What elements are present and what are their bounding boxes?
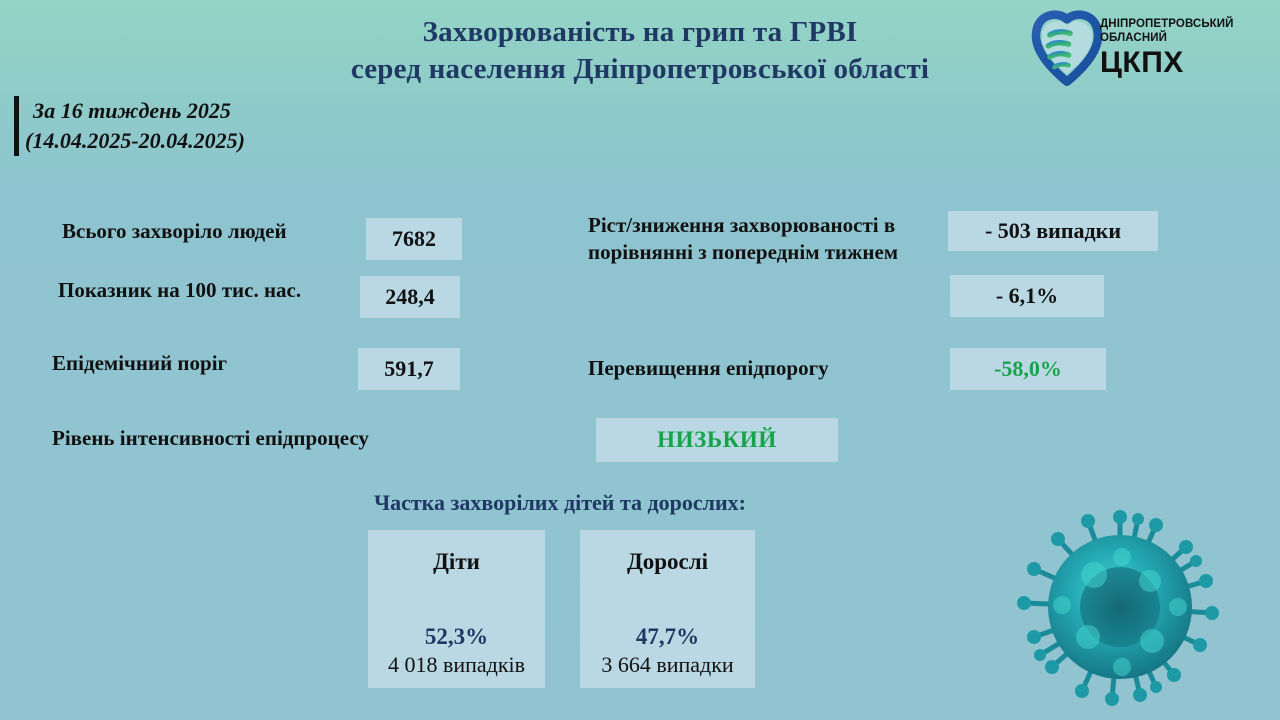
epidemic-intensity-value: НИЗЬКИЙ: [596, 418, 838, 462]
adults-card-title: Дорослі: [580, 548, 755, 576]
reporting-period-week: За 16 тиждень 2025: [33, 96, 245, 126]
weekly-change-percent-value: - 6,1%: [950, 275, 1104, 317]
organization-abbreviation: ЦКПХ: [1100, 47, 1276, 79]
total-cases-value: 7682: [366, 218, 462, 260]
incidence-rate-label: Показник на 100 тис. нас.: [58, 277, 301, 304]
organization-line-1: ДНІПРОПЕТРОВСЬКИЙ: [1100, 18, 1276, 32]
reporting-period-dates: (14.04.2025-20.04.2025): [25, 126, 245, 156]
threshold-excess-value: -58,0%: [950, 348, 1106, 390]
children-share-percent: 52,3%: [368, 624, 545, 650]
adults-share-card: Дорослі 47,7% 3 664 випадки: [580, 530, 755, 688]
adults-share-cases: 3 664 випадки: [580, 652, 755, 678]
share-section-title: Частка захворілих дітей та дорослих:: [330, 490, 790, 516]
incidence-rate-value: 248,4: [360, 276, 460, 318]
weekly-change-label: Ріст/зниження захворюваності в порівнянн…: [588, 212, 908, 266]
shield-heart-logo-icon: [1028, 10, 1106, 88]
epidemic-threshold-label: Епідемічний поріг: [52, 350, 227, 377]
children-share-cases: 4 018 випадків: [368, 652, 545, 678]
page-title-line-1: Захворюваність на грип та ГРВІ: [200, 14, 1080, 51]
epidemic-intensity-label: Рівень інтенсивності епідпроцесу: [52, 425, 369, 452]
page-title: Захворюваність на грип та ГРВІ серед нас…: [200, 14, 1080, 88]
reporting-period: За 16 тиждень 2025 (14.04.2025-20.04.202…: [14, 96, 245, 156]
epidemic-threshold-value: 591,7: [358, 348, 460, 390]
page-title-line-2: серед населення Дніпропетровської област…: [200, 51, 1080, 88]
infographic-slide: Захворюваність на грип та ГРВІ серед нас…: [0, 0, 1280, 720]
weekly-change-cases-value: - 503 випадки: [948, 211, 1158, 251]
children-card-title: Діти: [368, 548, 545, 576]
organization-line-2: ОБЛАСНИЙ: [1100, 32, 1276, 46]
organization-logo: ДНІПРОПЕТРОВСЬКИЙ ОБЛАСНИЙ ЦКПХ: [1028, 8, 1276, 90]
virus-illustration-icon: [990, 495, 1250, 720]
total-cases-label: Всього захворіло людей: [62, 218, 287, 245]
organization-name: ДНІПРОПЕТРОВСЬКИЙ ОБЛАСНИЙ ЦКПХ: [1100, 18, 1276, 79]
adults-share-percent: 47,7%: [580, 624, 755, 650]
threshold-excess-label: Перевищення епідпорогу: [588, 355, 829, 382]
children-share-card: Діти 52,3% 4 018 випадків: [368, 530, 545, 688]
